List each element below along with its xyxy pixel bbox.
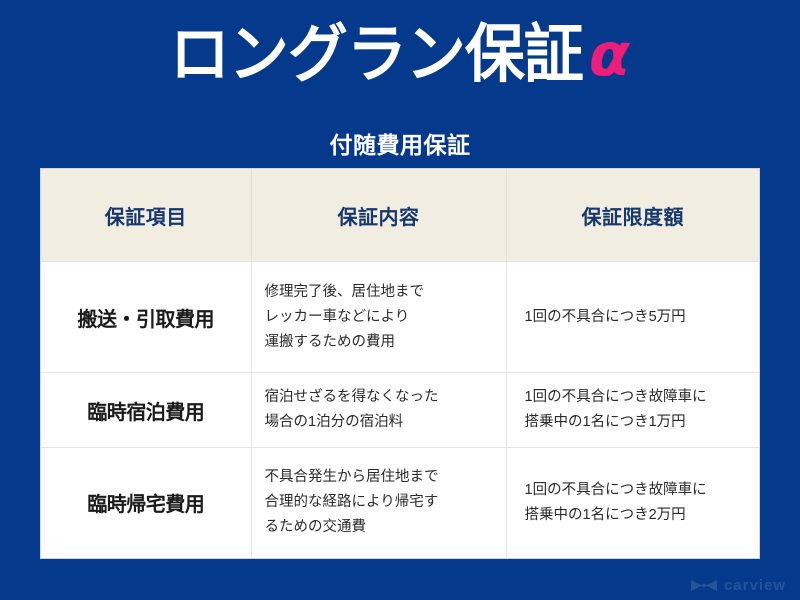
detail-line: 運搬するための費用 <box>265 330 498 355</box>
limit-line: 搭乗中の1名につき1万円 <box>525 410 752 435</box>
cell-limit: 1回の不具合につき故障車に 搭乗中の1名につき2万円 <box>506 447 759 558</box>
detail-line: るための交通費 <box>265 515 498 540</box>
cell-detail: 不具合発生から居住地まで 合理的な経路により帰宅す るための交通費 <box>251 447 506 558</box>
warranty-table-container: 保証項目 保証内容 保証限度額 搬送・引取費用 修理完了後、居住地まで レッカー… <box>40 168 760 559</box>
limit-line: 1回の不具合につき故障車に <box>525 385 752 410</box>
warranty-table: 保証項目 保証内容 保証限度額 搬送・引取費用 修理完了後、居住地まで レッカー… <box>41 169 759 558</box>
detail-line: 場合の1泊分の宿泊料 <box>265 410 498 435</box>
limit-line: 搭乗中の1名につき2万円 <box>525 503 752 528</box>
detail-line: 不具合発生から居住地まで <box>265 465 498 490</box>
table-header-row: 保証項目 保証内容 保証限度額 <box>41 169 759 262</box>
limit-line: 1回の不具合につき故障車に <box>525 478 752 503</box>
table-body: 搬送・引取費用 修理完了後、居住地まで レッカー車などにより 運搬するための費用… <box>41 262 759 559</box>
page-title: ロングラン保証 <box>170 20 583 90</box>
table-row: 臨時宿泊費用 宿泊せざるを得なくなった 場合の1泊分の宿泊料 1回の不具合につき… <box>41 373 759 448</box>
page-subtitle: 付随費用保証 <box>0 130 800 160</box>
cell-detail: 宿泊せざるを得なくなった 場合の1泊分の宿泊料 <box>251 373 506 448</box>
cell-limit: 1回の不具合につき故障車に 搭乗中の1名につき1万円 <box>506 373 759 448</box>
cell-item: 臨時宿泊費用 <box>41 373 251 448</box>
detail-line: 合理的な経路により帰宅す <box>265 490 498 515</box>
detail-line: 修理完了後、居住地まで <box>265 280 498 305</box>
cell-item: 搬送・引取費用 <box>41 262 251 373</box>
watermark: carview <box>691 577 786 594</box>
butterfly-logo-icon <box>691 578 717 593</box>
table-header: 保証項目 保証内容 保証限度額 <box>41 169 759 262</box>
table-row: 搬送・引取費用 修理完了後、居住地まで レッカー車などにより 運搬するための費用… <box>41 262 759 373</box>
alpha-badge: α <box>589 22 630 88</box>
watermark-label: carview <box>724 577 786 594</box>
slide-canvas: ロングラン保証α 付随費用保証 保証項目 保証内容 保証限度額 搬送・引取費用 … <box>0 0 800 600</box>
detail-line: 宿泊せざるを得なくなった <box>265 385 498 410</box>
cell-detail: 修理完了後、居住地まで レッカー車などにより 運搬するための費用 <box>251 262 506 373</box>
limit-line: 1回の不具合につき5万円 <box>525 305 752 330</box>
cell-item: 臨時帰宅費用 <box>41 447 251 558</box>
column-header-detail: 保証内容 <box>251 169 506 262</box>
column-header-limit: 保証限度額 <box>506 169 759 262</box>
cell-limit: 1回の不具合につき5万円 <box>506 262 759 373</box>
table-row: 臨時帰宅費用 不具合発生から居住地まで 合理的な経路により帰宅す るための交通費… <box>41 447 759 558</box>
detail-line: レッカー車などにより <box>265 305 498 330</box>
column-header-item: 保証項目 <box>41 169 251 262</box>
title-block: ロングラン保証α <box>0 22 800 88</box>
